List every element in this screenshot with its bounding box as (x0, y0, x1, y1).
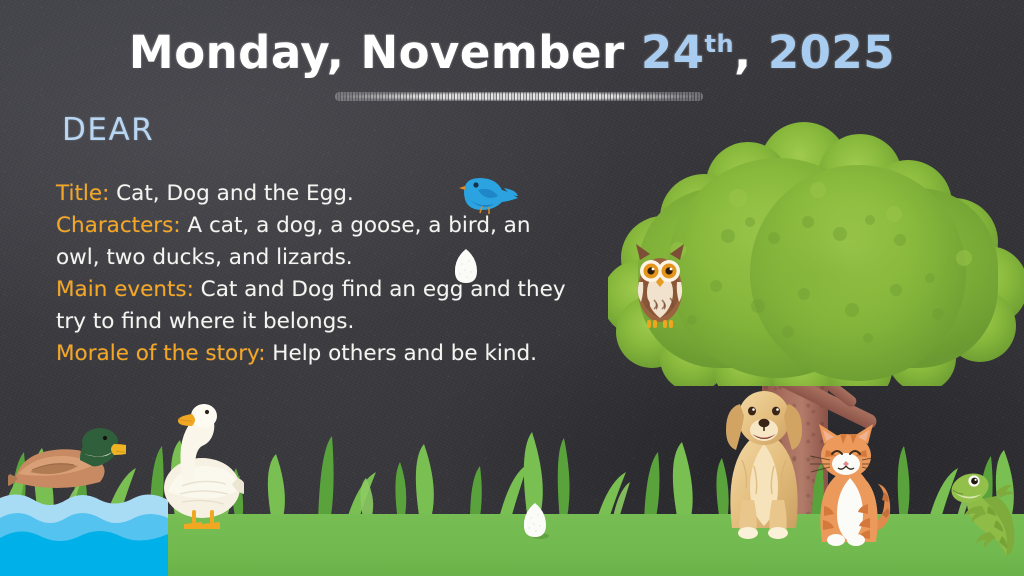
title-comma: , (734, 26, 768, 79)
title-underline (335, 92, 703, 101)
entry-line: Morale of the story: Help others and be … (56, 338, 576, 370)
title-weekday-month: Monday, November (129, 26, 641, 79)
entry-line: Title: Cat, Dog and the Egg. (56, 178, 576, 210)
entry-text-block: Title: Cat, Dog and the Egg. Characters:… (56, 178, 576, 370)
lizard-illustration (944, 468, 1018, 558)
duck-illustration (8, 424, 126, 502)
entry-label: Title: (56, 181, 109, 206)
egg-illustration (521, 502, 549, 539)
title-day-suffix: th (704, 30, 734, 58)
entry-label: Characters: (56, 213, 181, 238)
entry-value: Help others and be kind. (265, 341, 537, 366)
section-heading: DEAR (62, 112, 154, 148)
entry-line: Characters: A cat, a dog, a goose, a bir… (56, 210, 576, 274)
slide-canvas: Monday, November 24th, 2025 DEAR Title: … (0, 0, 1024, 576)
entry-label: Morale of the story: (56, 341, 265, 366)
goose-illustration (148, 392, 244, 536)
owl-illustration (632, 238, 688, 330)
entry-label: Main events: (56, 277, 194, 302)
cat-illustration (800, 420, 892, 548)
title-day-number: 24 (641, 26, 705, 79)
entry-line: Main events: Cat and Dog find an egg and… (56, 274, 576, 338)
entry-value: Cat, Dog and the Egg. (109, 181, 353, 206)
title-year: 2025 (768, 26, 895, 79)
page-title: Monday, November 24th, 2025 (0, 26, 1024, 79)
